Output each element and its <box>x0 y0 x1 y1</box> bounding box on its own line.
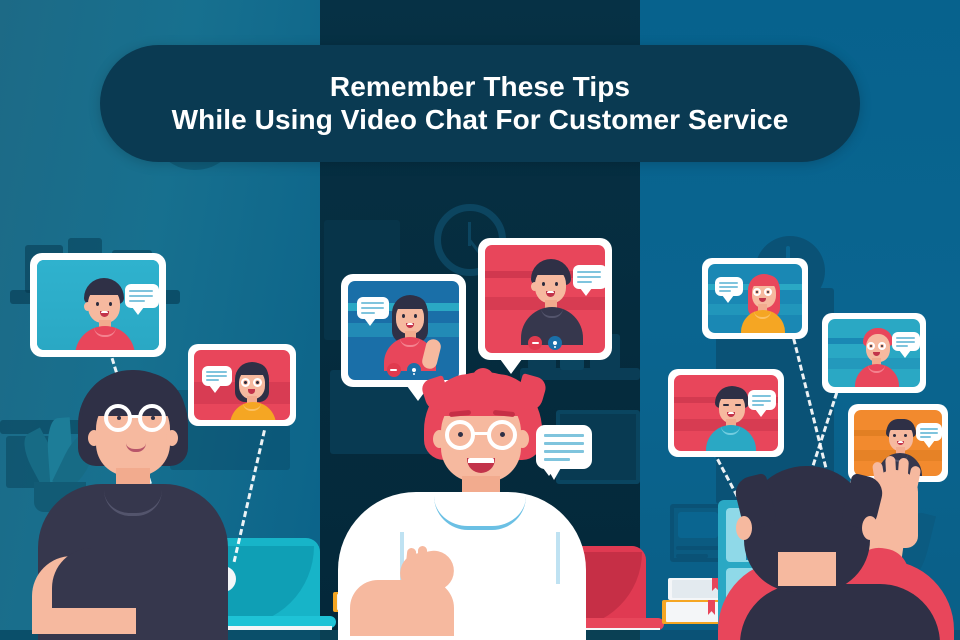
title-line-1: Remember These Tips <box>330 71 630 103</box>
chat-bubble-icon <box>357 297 389 319</box>
user-icon[interactable] <box>548 336 562 350</box>
mute-icon[interactable] <box>528 336 542 350</box>
title-line-2: While Using Video Chat For Customer Serv… <box>172 104 789 136</box>
title-banner: Remember These Tips While Using Video Ch… <box>100 45 860 162</box>
chat-bubble-icon <box>916 423 942 441</box>
chat-bubble-icon <box>125 284 159 308</box>
chat-bubble-icon <box>573 265 605 289</box>
video-card-right-3[interactable] <box>668 369 784 457</box>
avatar <box>740 274 790 333</box>
call-controls[interactable] <box>485 335 605 351</box>
video-card-right-2[interactable] <box>822 313 926 393</box>
mute-icon[interactable] <box>387 363 401 377</box>
chat-bubble-middle-tail <box>546 466 562 480</box>
chat-bubble-icon <box>202 366 232 386</box>
video-card-left-2[interactable] <box>188 344 296 426</box>
chat-bubble-icon <box>715 277 743 296</box>
avatar <box>384 295 440 367</box>
video-card-right-1[interactable] <box>702 258 808 339</box>
chat-bubble-icon <box>748 390 776 410</box>
chat-bubble-middle <box>536 425 592 469</box>
video-card-mid-2[interactable] <box>478 238 612 360</box>
illustration-canvas: Remember These Tips While Using Video Ch… <box>0 0 960 640</box>
user-icon[interactable] <box>407 363 421 377</box>
avatar <box>228 362 278 420</box>
video-card-left-1[interactable] <box>30 253 166 357</box>
video-card-mid-1[interactable] <box>341 274 466 387</box>
chat-bubble-icon <box>892 332 920 351</box>
